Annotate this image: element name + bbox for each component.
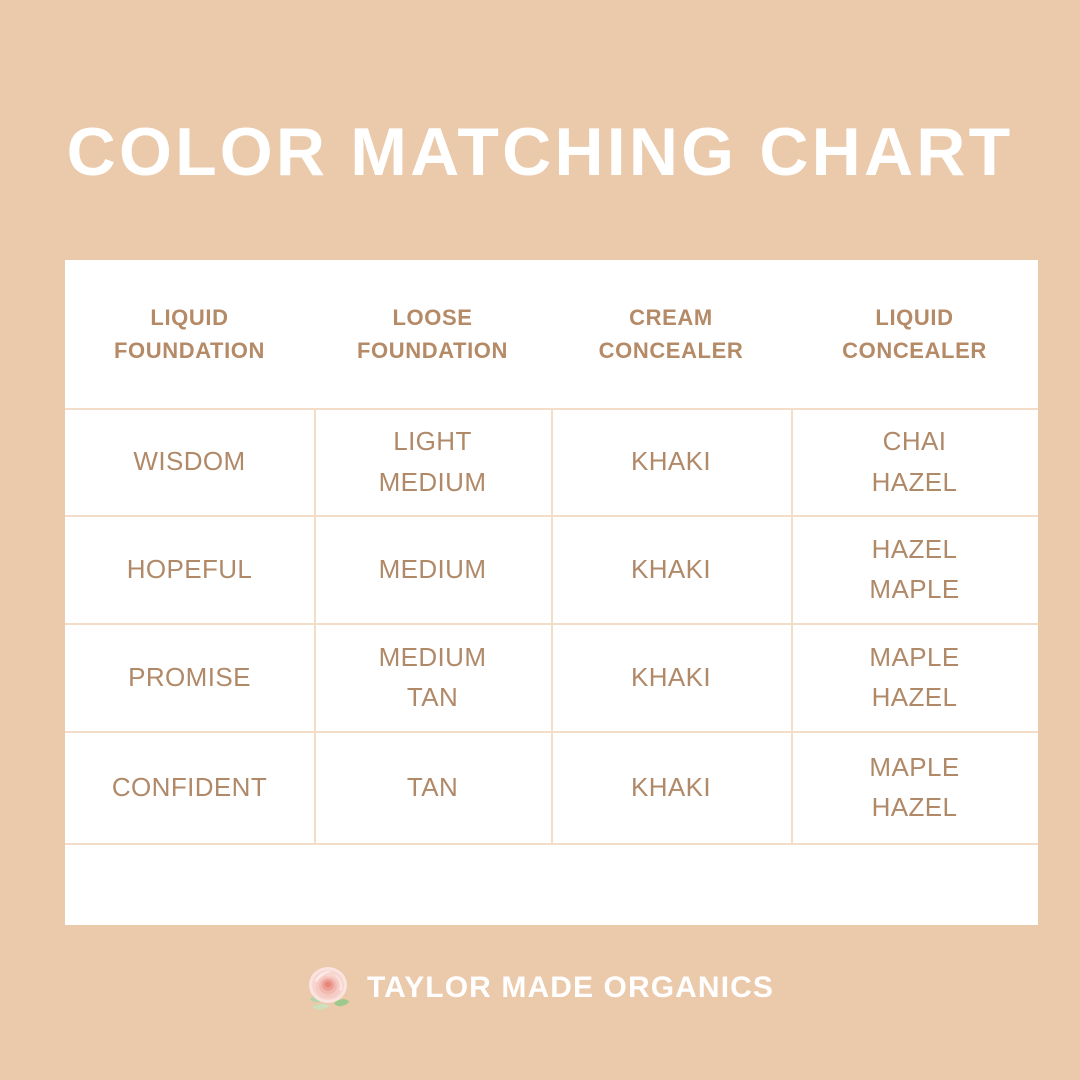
table-cell: KHAKI (551, 623, 791, 731)
table-cell: KHAKI (551, 408, 791, 515)
cell-line-1: CONFIDENT (112, 767, 267, 807)
table-cell: MEDIUM (314, 515, 551, 623)
footer-brand: TAYLOR MADE ORGANICS (0, 963, 1080, 1013)
cell-line-2: HAZEL (869, 787, 959, 827)
cell-line-1: WISDOM (133, 441, 245, 481)
table-cell: LIGHT MEDIUM (314, 408, 551, 515)
cell-line-2: TAN (379, 677, 487, 717)
cell-line-1: HAZEL (869, 529, 959, 569)
table-cell-empty (791, 843, 1038, 925)
cell-line-1: MAPLE (869, 747, 959, 787)
cell-line-1: PROMISE (128, 657, 251, 697)
table-cell: WISDOM (65, 408, 314, 515)
row-divider (65, 843, 1038, 845)
table-cell: TAN (314, 731, 551, 843)
table-cell: MEDIUM TAN (314, 623, 551, 731)
column-divider (314, 408, 316, 843)
rose-icon (306, 963, 350, 1013)
cell-line-1: KHAKI (631, 657, 711, 697)
cell-line-1: MEDIUM (379, 549, 487, 589)
table-cell: MAPLE HAZEL (791, 731, 1038, 843)
table-cell: HAZEL MAPLE (791, 515, 1038, 623)
color-matching-table: LIQUID FOUNDATION LOOSE FOUNDATION CREAM… (65, 260, 1038, 925)
table-cell-empty (314, 843, 551, 925)
column-header-liquid-concealer: LIQUID CONCEALER (791, 260, 1038, 408)
header-line-2: CONCEALER (842, 334, 987, 367)
table-cell: CONFIDENT (65, 731, 314, 843)
cell-line-1: MAPLE (869, 637, 959, 677)
column-header-liquid-foundation: LIQUID FOUNDATION (65, 260, 314, 408)
cell-line-2: HAZEL (869, 677, 959, 717)
table-cell: KHAKI (551, 731, 791, 843)
cell-line-2: HAZEL (872, 462, 958, 502)
page-title: COLOR MATCHING CHART (0, 118, 1080, 186)
table-cell-empty (65, 843, 314, 925)
header-line-1: LIQUID (114, 301, 265, 334)
cell-line-1: MEDIUM (379, 637, 487, 677)
column-header-loose-foundation: LOOSE FOUNDATION (314, 260, 551, 408)
header-line-1: LOOSE (357, 301, 508, 334)
header-line-2: FOUNDATION (357, 334, 508, 367)
table-cell: KHAKI (551, 515, 791, 623)
cell-line-1: LIGHT (379, 421, 487, 461)
table-cell-empty (551, 843, 791, 925)
column-divider (551, 408, 553, 843)
header-line-2: CONCEALER (599, 334, 744, 367)
column-header-cream-concealer: CREAM CONCEALER (551, 260, 791, 408)
cell-line-1: TAN (407, 767, 458, 807)
cell-line-1: CHAI (872, 421, 958, 461)
header-line-2: FOUNDATION (114, 334, 265, 367)
table-cell: CHAI HAZEL (791, 408, 1038, 515)
cell-line-1: KHAKI (631, 441, 711, 481)
cell-line-2: MEDIUM (379, 462, 487, 502)
cell-line-1: HOPEFUL (127, 549, 253, 589)
header-line-1: LIQUID (842, 301, 987, 334)
table-cell: HOPEFUL (65, 515, 314, 623)
cell-line-2: MAPLE (869, 569, 959, 609)
column-divider (791, 408, 793, 843)
cell-line-1: KHAKI (631, 549, 711, 589)
table-cell: MAPLE HAZEL (791, 623, 1038, 731)
table-cell: PROMISE (65, 623, 314, 731)
brand-name: TAYLOR MADE ORGANICS (367, 973, 774, 1003)
cell-line-1: KHAKI (631, 767, 711, 807)
header-line-1: CREAM (599, 301, 744, 334)
